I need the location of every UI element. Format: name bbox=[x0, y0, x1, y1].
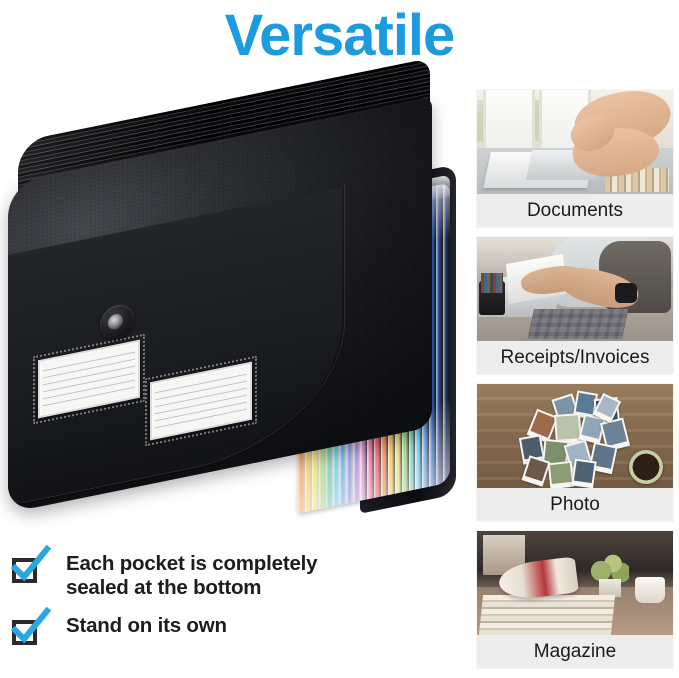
wristwatch bbox=[615, 283, 637, 303]
page-title: Versatile bbox=[0, 2, 679, 70]
book-stack bbox=[479, 595, 615, 635]
product-image bbox=[0, 78, 470, 548]
use-case-panel-receipts: Receipts/Invoices bbox=[477, 237, 673, 374]
feature-text: Stand on its own bbox=[66, 614, 227, 638]
snap-button-core bbox=[108, 313, 123, 331]
receipts-photo bbox=[477, 237, 673, 341]
use-case-panel-magazine: Magazine bbox=[477, 531, 673, 668]
panel-caption-receipts: Receipts/Invoices bbox=[477, 341, 673, 374]
check-glyph bbox=[11, 548, 49, 586]
check-glyph bbox=[11, 610, 49, 648]
folder-front-flap bbox=[8, 187, 342, 506]
window-pane-left bbox=[483, 90, 535, 154]
pens bbox=[481, 273, 503, 293]
magazine-photo bbox=[477, 531, 673, 635]
accordion-fin bbox=[436, 184, 443, 485]
use-case-panel-documents: Documents bbox=[477, 90, 673, 227]
checkmark-icon bbox=[12, 554, 42, 584]
use-case-panel-list: Documents Receipts/Invoices Photo bbox=[477, 90, 673, 678]
checkmark-icon bbox=[12, 616, 42, 646]
accordion-fin bbox=[443, 183, 450, 484]
polaroid-photo bbox=[571, 459, 597, 488]
panel-caption-magazine: Magazine bbox=[477, 635, 673, 668]
white-mug bbox=[635, 577, 665, 603]
feature-item: Stand on its own bbox=[12, 614, 462, 646]
use-case-panel-photo: Photo bbox=[477, 384, 673, 521]
photo-photo bbox=[477, 384, 673, 488]
feature-item: Each pocket is completely sealed at the … bbox=[12, 552, 462, 600]
polaroid-pile bbox=[511, 392, 637, 484]
panel-caption-photo: Photo bbox=[477, 488, 673, 521]
panel-caption-documents: Documents bbox=[477, 194, 673, 227]
feature-list: Each pocket is completely sealed at the … bbox=[12, 552, 462, 660]
calculator bbox=[528, 309, 628, 339]
coffee-mug bbox=[629, 450, 663, 484]
feature-text: Each pocket is completely sealed at the … bbox=[66, 552, 317, 600]
documents-photo bbox=[477, 90, 673, 194]
